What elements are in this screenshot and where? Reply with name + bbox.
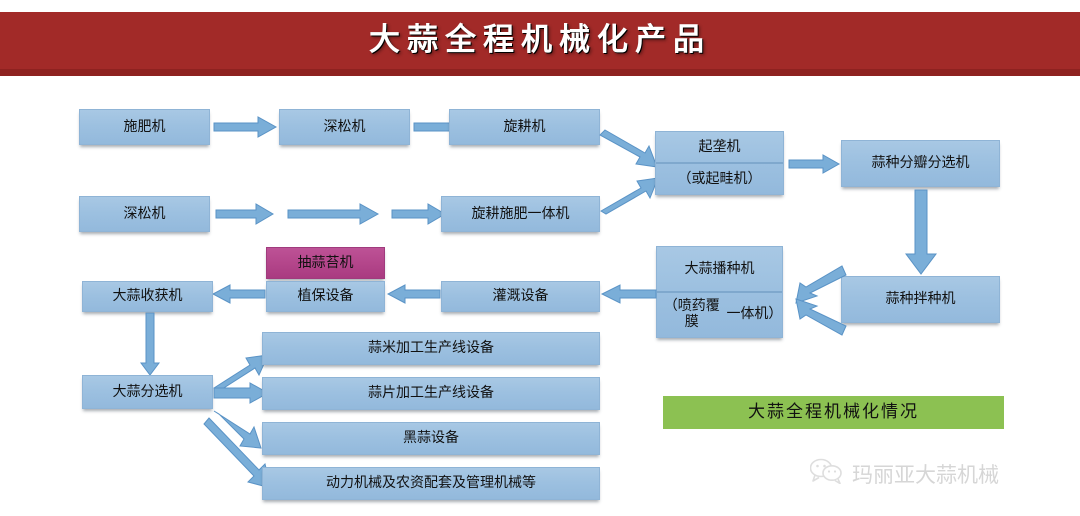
title-banner: 大蒜全程机械化产品 (0, 12, 1080, 76)
node-rotary-fertilizer-combo[interactable]: 旋耕施肥一体机 (441, 196, 600, 232)
arrow-row2-segment-1 (216, 204, 273, 224)
node-rotary-tiller[interactable]: 旋耕机 (449, 109, 600, 145)
arrow-plant-protection-to-harvester (213, 285, 265, 303)
node-seed-mixer[interactable]: 蒜种拌种机 (841, 276, 1000, 323)
node-bolt-puller[interactable]: 抽蒜苔机 (266, 247, 385, 279)
node-garlic-sorter[interactable]: 大蒜分选机 (82, 375, 213, 409)
node-garlic-harvester[interactable]: 大蒜收获机 (82, 281, 213, 312)
arrow-ridger-to-seed-splitter (789, 155, 839, 173)
node-plant-protection[interactable]: 植保设备 (266, 281, 385, 312)
planter-sub-line-1: （喷药覆膜 (657, 299, 726, 330)
node-black-garlic-equipment[interactable]: 黑蒜设备 (262, 422, 600, 455)
arrow-rotary-combo-to-ridger (601, 172, 659, 214)
watermark: 玛丽亚大蒜机械 (810, 458, 999, 489)
arrow-rotary-tiller-to-ridger (601, 126, 659, 168)
arrow-harvester-to-sorter (141, 313, 159, 375)
diagram-canvas: 大蒜全程机械化产品 施肥机 深松机 旋耕机 深松机 旋耕施肥一体机 起垄机 （或… (0, 0, 1080, 516)
node-seed-splitter-sorter[interactable]: 蒜种分瓣分选机 (841, 140, 1000, 187)
node-garlic-planter[interactable]: 大蒜播种机 （喷药覆膜 一体机） (656, 246, 783, 338)
node-power-machinery[interactable]: 动力机械及农资配套及管理机械等 (262, 467, 600, 500)
node-ridger-top-label: 起垄机 (656, 132, 783, 164)
node-subsoiler-row1[interactable]: 深松机 (279, 109, 410, 145)
node-rice-processing-line[interactable]: 蒜米加工生产线设备 (262, 332, 600, 365)
arrow-planter-to-irrigation (602, 285, 656, 303)
node-irrigation-equipment[interactable]: 灌溉设备 (441, 281, 600, 312)
node-slice-processing-line[interactable]: 蒜片加工生产线设备 (262, 377, 600, 410)
node-garlic-planter-bottom-label: （喷药覆膜 一体机） (657, 293, 782, 337)
planter-sub-line-2: 一体机） (726, 307, 782, 323)
arrow-row2-segment-3 (392, 204, 445, 224)
node-overview-label[interactable]: 大蒜全程机械化情况 (663, 396, 1004, 429)
arrow-sorter-to-slice-line (214, 383, 268, 403)
watermark-text: 玛丽亚大蒜机械 (852, 459, 999, 489)
arrow-mixer-to-planter-chevron (784, 266, 846, 336)
arrow-fertilizer-to-subsoiler (214, 117, 276, 137)
node-ridger[interactable]: 起垄机 （或起畦机） (655, 131, 784, 195)
page-title: 大蒜全程机械化产品 (0, 12, 1080, 69)
arrow-row2-segment-2 (288, 204, 378, 224)
node-subsoiler-row2[interactable]: 深松机 (79, 196, 210, 232)
node-ridger-bottom-label: （或起畦机） (656, 164, 783, 194)
wechat-icon (810, 458, 844, 489)
node-garlic-planter-top-label: 大蒜播种机 (657, 247, 782, 293)
node-fertilizer-machine[interactable]: 施肥机 (79, 109, 210, 145)
arrow-seed-splitter-to-mixer (906, 190, 936, 274)
arrow-irrigation-to-plant-protection (388, 285, 440, 303)
